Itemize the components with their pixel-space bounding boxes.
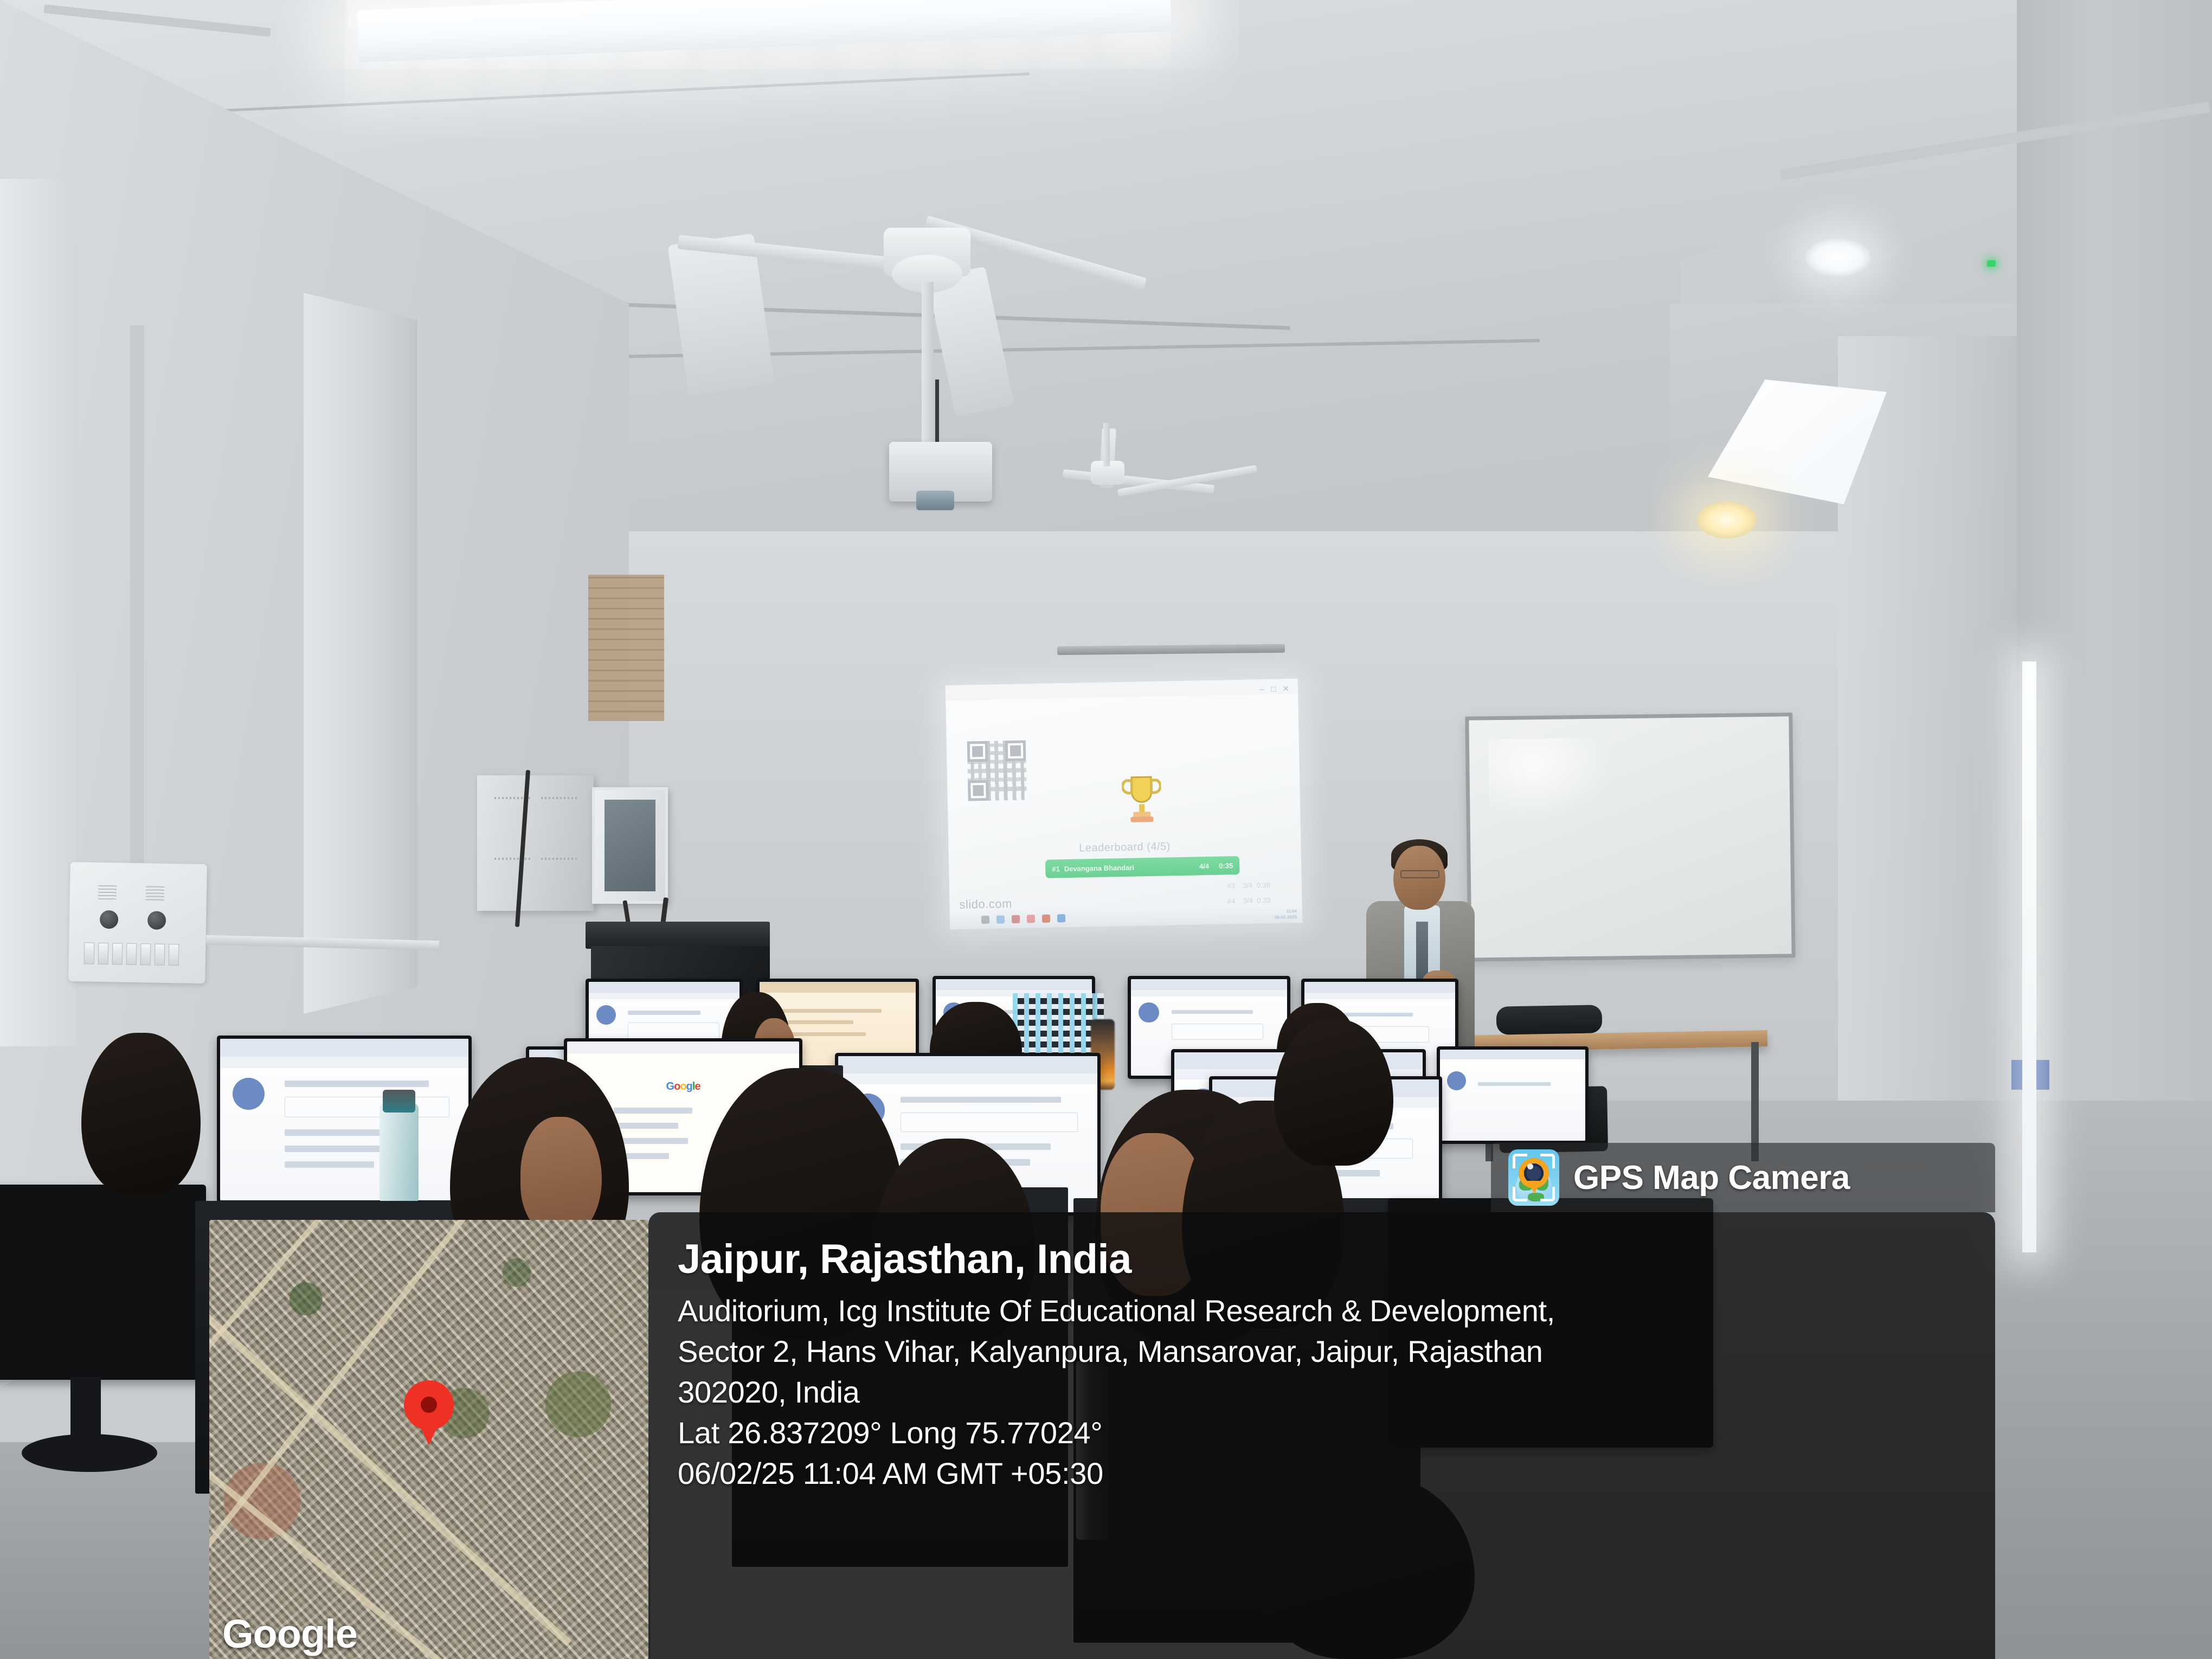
gps-map-camera-logo-icon (1508, 1149, 1559, 1206)
network-cabinet-icon (477, 775, 594, 911)
qr-code-icon (967, 740, 1027, 801)
gps-app-title: GPS Map Camera (1573, 1159, 1850, 1197)
app-icon[interactable] (1042, 914, 1050, 922)
tube-light-icon (2022, 661, 2036, 1252)
folder-icon[interactable] (996, 915, 1005, 923)
projector-lens (916, 491, 954, 510)
monitor (1437, 1046, 1589, 1144)
projector-cable (935, 380, 939, 447)
monitor-base (22, 1434, 157, 1472)
left-pillar (304, 293, 417, 1014)
monitor (0, 1185, 206, 1380)
water-bottle (380, 1103, 419, 1206)
leaderboard-time: 0:35 (1219, 861, 1233, 870)
network-cabinet-icon (592, 787, 668, 904)
location-title: Jaipur, Rajasthan, India (678, 1237, 1925, 1282)
wall-conduit (130, 325, 144, 949)
screenshot-root: – □ ✕ Leaderboard (4/5) #1 Devangana Bha… (0, 0, 2212, 1659)
app-grid-screen (1013, 993, 1104, 1061)
google-logo: Google (666, 1081, 700, 1093)
powerpoint-icon[interactable] (1027, 915, 1035, 923)
whiteboard (1465, 712, 1795, 961)
student-face (520, 1117, 602, 1236)
address-line-3: 302020, India (678, 1372, 1925, 1412)
google-watermark: Google (222, 1611, 357, 1657)
projection-screen: – □ ✕ Leaderboard (4/5) #1 Devangana Bha… (946, 679, 1303, 929)
downlight-icon (1697, 501, 1757, 538)
student-head (81, 1033, 201, 1195)
leaderboard-row: #1 Devangana Bhandari 4/4 0:35 (1045, 856, 1240, 878)
leaderboard-rank: #1 (1052, 865, 1060, 873)
edge-icon[interactable] (1057, 914, 1065, 922)
leaderboard-row: #4 3/4 0:33 (1227, 896, 1271, 905)
trophy-icon (1122, 774, 1162, 824)
monitor-stand (70, 1377, 101, 1442)
system-tray: 11:0406-02-2025 (1275, 909, 1297, 921)
leaderboard-score: 4/4 (1199, 862, 1209, 870)
rack-shelf (586, 922, 770, 949)
wall-opening (588, 575, 664, 721)
bottle-cap (383, 1090, 415, 1113)
map-thumbnail[interactable]: Google (209, 1220, 648, 1659)
map-pin-icon (404, 1380, 454, 1445)
monitor (217, 1036, 472, 1204)
gps-text-block: Jaipur, Rajasthan, India Auditorium, Icg… (678, 1237, 1925, 1494)
electrical-panel-icon (68, 862, 207, 983)
coordinates: Lat 26.837209° Long 75.77024° (678, 1412, 1925, 1453)
left-wall-column (0, 179, 76, 1046)
window-controls: – □ ✕ (1259, 684, 1291, 694)
app-icon[interactable] (1012, 915, 1020, 923)
gps-app-badge: GPS Map Camera (1491, 1143, 1995, 1212)
address-line-1: Auditorium, Icg Institute Of Educational… (678, 1290, 1925, 1331)
address-line-2: Sector 2, Hans Vihar, Kalyanpura, Mansar… (678, 1331, 1925, 1372)
leaderboard-name: Devangana Bhandari (1064, 862, 1190, 872)
leaderboard-row: #3 3/4 0:38 (1227, 881, 1270, 890)
led-indicator-icon (1987, 260, 1996, 267)
glasses-icon (1400, 870, 1439, 878)
student-head (1274, 1019, 1393, 1166)
search-icon[interactable] (981, 915, 989, 923)
chair (1496, 1005, 1603, 1034)
downlight-icon (1805, 239, 1870, 276)
leaderboard-title: Leaderboard (4/5) (948, 838, 1301, 857)
timestamp: 06/02/25 11:04 AM GMT +05:30 (678, 1453, 1925, 1494)
